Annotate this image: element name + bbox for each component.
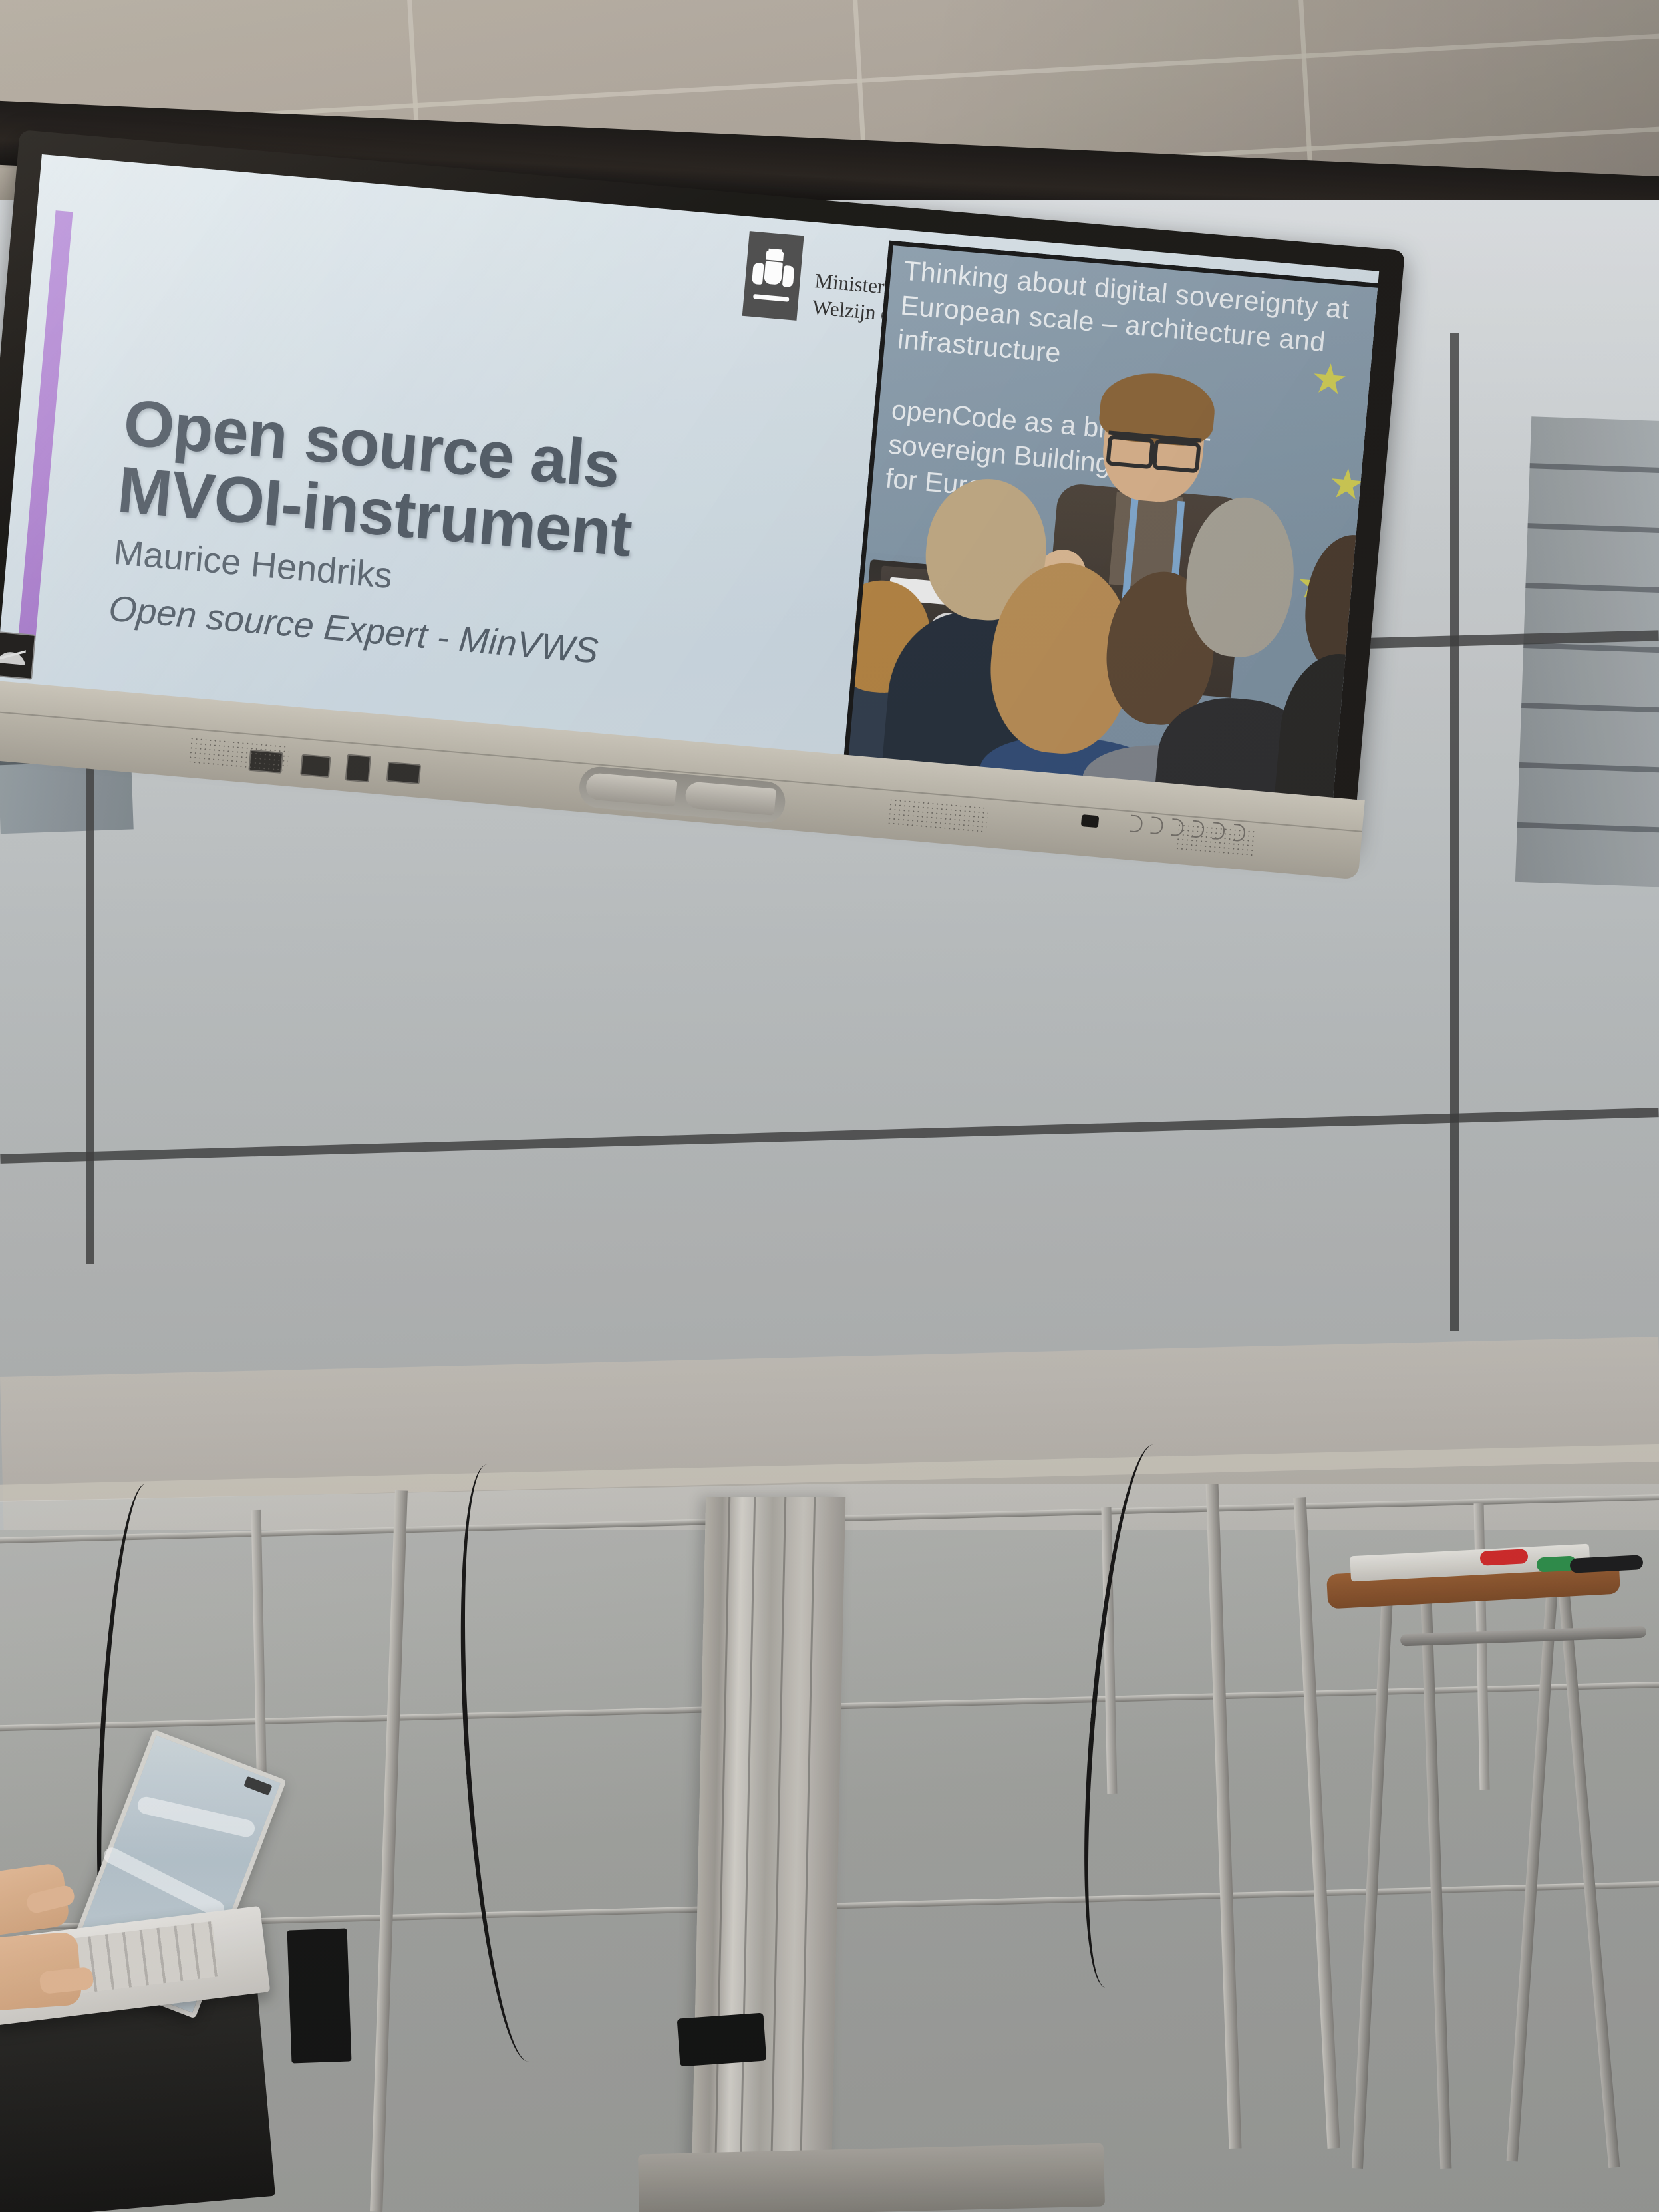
usb-b-port[interactable]: [345, 754, 371, 782]
window-mullion: [1450, 333, 1459, 1331]
photo-border: [842, 240, 1380, 820]
webcam-icon: [243, 1776, 272, 1796]
brand-badge-icon: [0, 631, 36, 680]
interactive-display[interactable]: Ministerie van Volksgezondheid, Welzijn …: [0, 130, 1422, 1538]
railing-clamp: [287, 1928, 352, 2063]
conference-photo: ★ ★ ★ ★ Thinking about digital sovereign…: [842, 240, 1380, 820]
home-button[interactable]: [1233, 824, 1246, 842]
slide-role: Open source Expert - MinVWS: [107, 588, 600, 672]
hdmi-port[interactable]: [386, 762, 421, 784]
stylus-pen-left[interactable]: [585, 772, 677, 807]
dutch-government-coat-of-arms-icon: [750, 249, 796, 302]
power-button[interactable]: [1130, 815, 1143, 833]
volume-down-button[interactable]: [1171, 818, 1184, 836]
stylus-pen-right[interactable]: [684, 781, 776, 816]
volume-up-button[interactable]: [1191, 820, 1205, 838]
usb-port[interactable]: [300, 754, 331, 778]
building-right: [1515, 416, 1659, 887]
power-adapter: [677, 2013, 767, 2067]
menu-button[interactable]: [1212, 822, 1225, 840]
coat-of-arms-block: [742, 231, 804, 321]
stylus-pen-tray[interactable]: [578, 765, 787, 824]
ir-receiver-icon: [1081, 814, 1099, 828]
display-trolley-column: [691, 1497, 846, 2212]
red-marker: [1479, 1549, 1528, 1566]
input-button[interactable]: [1150, 816, 1163, 834]
trolley-base: [638, 2143, 1105, 2212]
photo-scene: Ministerie van Volksgezondheid, Welzijn …: [0, 0, 1659, 2212]
